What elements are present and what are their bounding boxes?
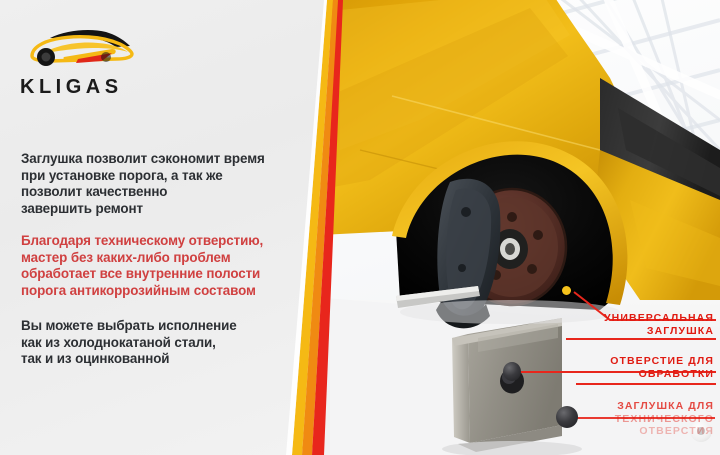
paragraph-line: Вы можете выбрать исполнение: [21, 318, 313, 335]
callout-marker-tech-hole[interactable]: [556, 406, 578, 428]
paragraph-line: Благодаря техническому отверстию,: [21, 233, 313, 250]
metal-sill-panel: [452, 318, 562, 452]
callout-line: ОТВЕРСТИЯ: [615, 425, 714, 438]
sports-car-logo-icon: [20, 26, 140, 72]
callout-service-hole: ОТВЕРСТИЕ ДЛЯ ОБРАБОТКИ: [610, 355, 714, 380]
callout-line: УНИВЕРСАЛЬНАЯ: [604, 312, 714, 325]
brand-logo[interactable]: KLIGAS: [20, 26, 200, 99]
paragraph-benefit-anticorrosion: Благодаря техническому отверстию, мастер…: [21, 233, 313, 299]
callout-line: ТЕХНИЧЕСКОГО: [615, 413, 714, 426]
paragraph-line: Заглушка позволит сэкономит время: [21, 151, 313, 168]
diagonal-stripe-divider: [280, 0, 360, 455]
callout-line: ЗАГЛУШКА ДЛЯ: [615, 400, 714, 413]
paragraph-benefit-time: Заглушка позволит сэкономит время при ус…: [21, 151, 313, 217]
paragraph-line: завершить ремонт: [21, 201, 313, 218]
paragraph-line: позволит качественно: [21, 184, 313, 201]
callout-marker-universal-plug[interactable]: [562, 286, 571, 295]
paragraph-line: так и из оцинкованной: [21, 351, 313, 368]
paragraph-line: как из холоднокатаной стали,: [21, 335, 313, 352]
paragraph-line: порога антикоррозийным составом: [21, 283, 313, 300]
callout-line: ОБРАБОТКИ: [610, 368, 714, 381]
brand-name: KLIGAS: [20, 76, 200, 99]
callout-line: ОТВЕРСТИЕ ДЛЯ: [610, 355, 714, 368]
callout-universal-plug: УНИВЕРСАЛЬНАЯ ЗАГЛУШКА: [604, 312, 714, 337]
paragraph-line: при установке порога, а так же: [21, 168, 313, 185]
callout-underline-universal-plug: [566, 338, 716, 340]
paragraph-benefit-material: Вы можете выбрать исполнение как из холо…: [21, 318, 313, 368]
car-photo-illustration: [300, 0, 720, 455]
paragraph-line: обработает все внутренние полости: [21, 266, 313, 283]
callout-underline-service-hole: [576, 383, 716, 385]
callout-tech-hole-plug: ЗАГЛУШКА ДЛЯ ТЕХНИЧЕСКОГО ОТВЕРСТИЯ: [615, 400, 714, 438]
car-photo: [300, 0, 720, 455]
callout-line: ЗАГЛУШКА: [604, 325, 714, 338]
callout-marker-service-hole[interactable]: [503, 362, 521, 381]
paragraph-line: мастер без каких-либо проблем: [21, 250, 313, 267]
promo-poster: KLIGAS Заглушка позволит сэкономит время…: [0, 0, 720, 455]
